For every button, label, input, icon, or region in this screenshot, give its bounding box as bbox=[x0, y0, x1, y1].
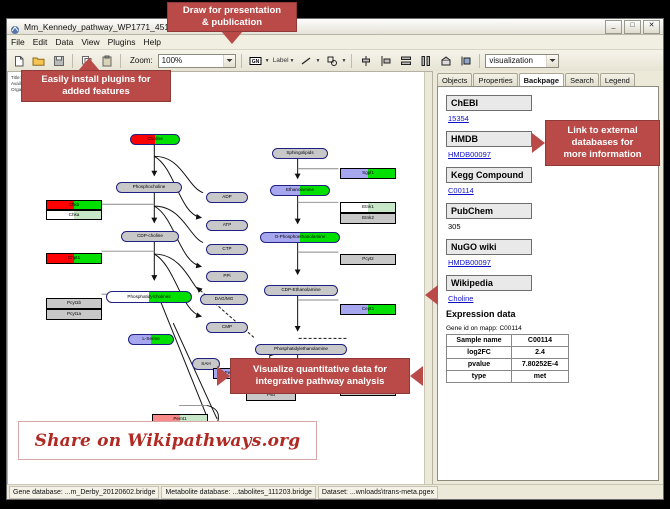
open-folder-icon[interactable] bbox=[30, 52, 47, 69]
node-label: Sgpl1 bbox=[362, 171, 374, 176]
expression-value: 2.4 bbox=[512, 347, 569, 359]
save-icon[interactable] bbox=[50, 52, 67, 69]
callout-links-line2: databases for bbox=[572, 137, 634, 149]
node-label: CMP bbox=[222, 325, 232, 330]
gene-product-tool[interactable]: GN ▼ bbox=[247, 52, 270, 69]
maximize-button[interactable]: □ bbox=[624, 20, 641, 34]
node-label: ADP bbox=[222, 195, 231, 200]
app-icon bbox=[10, 22, 20, 32]
gene-node-etnk1[interactable]: Etnk1 bbox=[340, 202, 396, 213]
metabolite-node-sphingolipids[interactable]: Sphingolipids bbox=[272, 148, 328, 159]
node-label: O-Phosphoethanolamine bbox=[275, 235, 326, 240]
shape-icon[interactable] bbox=[323, 52, 340, 69]
callout-visualize-data: Visualize quantitative data for integrat… bbox=[230, 358, 410, 394]
node-label: ATP bbox=[223, 223, 232, 228]
callout-external-links: Link to external databases for more info… bbox=[545, 120, 660, 166]
node-label: Phosphatidylethanolamine bbox=[274, 347, 328, 352]
status-gene-database: Gene database: ...m_Derby_20120602.bridg… bbox=[9, 486, 159, 499]
database-name: PubChem bbox=[446, 203, 532, 219]
tab-objects[interactable]: Objects bbox=[437, 73, 472, 86]
metabolite-node-phosphatidylethanolamine[interactable]: Phosphatidylethanolamine bbox=[255, 344, 347, 355]
tab-backpage[interactable]: Backpage bbox=[519, 73, 564, 86]
callout-install-plugins: Easily install plugins for added feature… bbox=[21, 70, 171, 102]
database-link[interactable]: Choline bbox=[448, 294, 658, 303]
table-row: typemet bbox=[447, 371, 569, 383]
toolbar-separator bbox=[241, 54, 242, 68]
gene-node-chpt1[interactable]: Chpt1 bbox=[46, 253, 102, 264]
database-link[interactable]: HMDB00097 bbox=[448, 258, 658, 267]
menu-item-plugins[interactable]: Plugins bbox=[108, 37, 136, 47]
metabolite-node-choline-top[interactable]: Choline bbox=[130, 134, 180, 145]
window-titlebar: Mm_Kennedy_pathway_WP1771_45176.gpml _ □… bbox=[7, 19, 663, 35]
metabolite-node-o-phosphoethanolamine[interactable]: O-Phosphoethanolamine bbox=[260, 232, 340, 243]
node-label: Etnk2 bbox=[362, 216, 374, 221]
share-banner-text: Share on Wikipathways.org bbox=[35, 431, 301, 451]
screenshot-root: Mm_Kennedy_pathway_WP1771_45176.gpml _ □… bbox=[0, 0, 670, 509]
zoom-label: Zoom: bbox=[130, 56, 153, 65]
table-row: pvalue7.80252E-4 bbox=[447, 359, 569, 371]
callout-plugins-line2: added features bbox=[62, 86, 130, 98]
side-panel-tabs: Objects Properties Backpage Search Legen… bbox=[433, 71, 663, 86]
gene-node-chka[interactable]: Chka bbox=[46, 210, 102, 220]
metabolite-node-ctp[interactable]: CTP bbox=[206, 244, 248, 255]
database-block-wikipedia: WikipediaCholine bbox=[446, 273, 658, 303]
chevron-down-icon[interactable] bbox=[223, 55, 235, 67]
callout-links-pointer bbox=[532, 133, 545, 153]
node-label: SAH bbox=[201, 362, 210, 367]
expression-key: Sample name bbox=[447, 335, 512, 347]
paste-icon[interactable] bbox=[98, 52, 115, 69]
gene-id-label: Gene id on mapp: C00114 bbox=[446, 325, 658, 332]
database-name: Wikipedia bbox=[446, 275, 532, 291]
metabolite-node-phosphatidylcholines[interactable]: Phosphatidylcholines bbox=[106, 291, 192, 303]
database-value: 305 bbox=[448, 222, 658, 231]
gene-node-chkb[interactable]: Chkb bbox=[46, 200, 102, 210]
metabolite-node-cmp[interactable]: CMP bbox=[206, 322, 248, 333]
gene-node-pcyt1a[interactable]: Pcyt1a bbox=[46, 309, 102, 320]
label-tool[interactable]: Label ▼ bbox=[273, 57, 295, 64]
callout-plugins-line1: Easily install plugins for bbox=[41, 74, 150, 86]
shape-tool[interactable]: ▼ bbox=[323, 52, 346, 69]
gene-node-sgpl1[interactable]: Sgpl1 bbox=[340, 168, 396, 179]
node-label: PPi bbox=[223, 274, 230, 279]
visualization-value: visualization bbox=[489, 56, 533, 65]
toolbar-separator bbox=[72, 54, 73, 68]
chevron-down-icon[interactable]: ▼ bbox=[290, 58, 295, 64]
callout-visualize-pointer bbox=[217, 366, 230, 386]
expression-key: pvalue bbox=[447, 359, 512, 371]
table-row: Sample nameC00114 bbox=[447, 335, 569, 347]
database-block-nugo-wiki: NuGO wikiHMDB00097 bbox=[446, 237, 658, 267]
database-block-kegg-compound: Kegg CompoundC00114 bbox=[446, 165, 658, 195]
toolbar-separator bbox=[351, 54, 352, 68]
bring-front-icon[interactable] bbox=[457, 52, 474, 69]
node-label: Pcyt2 bbox=[362, 257, 374, 262]
metabolite-node-dag-mg[interactable]: DAG/MG bbox=[200, 294, 248, 305]
close-button[interactable]: ✕ bbox=[643, 20, 660, 34]
menu-item-view[interactable]: View bbox=[81, 37, 99, 47]
callout-draw-pointer bbox=[221, 31, 243, 44]
node-label: Chpt1 bbox=[68, 256, 80, 261]
database-name: Kegg Compound bbox=[446, 167, 532, 183]
svg-text:GN: GN bbox=[251, 59, 259, 65]
database-link[interactable]: C00114 bbox=[448, 186, 658, 195]
node-label: Phosphocholine bbox=[133, 185, 166, 190]
node-label: Chkb bbox=[69, 203, 80, 208]
expression-key: type bbox=[447, 371, 512, 383]
chevron-down-icon[interactable]: ▼ bbox=[315, 58, 320, 64]
window-controls: _ □ ✕ bbox=[605, 20, 660, 34]
zoom-combobox[interactable]: 100% bbox=[158, 54, 236, 68]
label-tool-text: Label bbox=[273, 57, 289, 64]
node-label: Cept1 bbox=[362, 307, 374, 312]
menu-item-data[interactable]: Data bbox=[55, 37, 73, 47]
metabolite-node-ppi[interactable]: PPi bbox=[206, 271, 248, 282]
callout-visualize-line2: integrative pathway analysis bbox=[256, 376, 385, 388]
line-tool[interactable]: ▼ bbox=[297, 52, 320, 69]
database-name: NuGO wiki bbox=[446, 239, 532, 255]
metabolite-node-l-serine-left[interactable]: L-Serine bbox=[128, 334, 174, 345]
expression-value: C00114 bbox=[512, 335, 569, 347]
node-label: Chka bbox=[69, 213, 80, 218]
status-metabolite-database: Metabolite database: ...tabolites_111203… bbox=[161, 486, 315, 499]
share-banner: Share on Wikipathways.org bbox=[18, 421, 317, 460]
tab-legend[interactable]: Legend bbox=[600, 73, 635, 86]
metabolite-node-cdp-ethanolamine[interactable]: CDP-Ethanolamine bbox=[264, 285, 338, 296]
canvas-scrollbar[interactable] bbox=[424, 72, 432, 484]
minimize-button[interactable]: _ bbox=[605, 20, 622, 34]
metabolite-node-ethanolamine[interactable]: Ethanolamine bbox=[270, 185, 330, 196]
expression-value: 7.80252E-4 bbox=[512, 359, 569, 371]
expression-data-heading: Expression data bbox=[446, 309, 658, 319]
chevron-down-icon[interactable] bbox=[546, 55, 558, 67]
menu-item-edit[interactable]: Edit bbox=[33, 37, 48, 47]
stack-icon[interactable] bbox=[437, 52, 454, 69]
align-left-icon[interactable] bbox=[377, 52, 394, 69]
gene-node-pcyt1b[interactable]: Pcyt1b bbox=[46, 298, 102, 309]
node-label: Ethanolamine bbox=[286, 188, 314, 193]
metabolite-node-adp[interactable]: ADP bbox=[206, 192, 248, 203]
toolbar-separator bbox=[120, 54, 121, 68]
chevron-down-icon[interactable]: ▼ bbox=[265, 58, 270, 64]
gene-node-etnk2[interactable]: Etnk2 bbox=[340, 213, 396, 224]
node-label: CTP bbox=[222, 247, 231, 252]
menu-item-help[interactable]: Help bbox=[144, 37, 161, 47]
expression-key: log2FC bbox=[447, 347, 512, 359]
expression-table: Sample nameC00114log2FC2.4pvalue7.80252E… bbox=[446, 334, 569, 383]
database-name: ChEBI bbox=[446, 95, 532, 111]
callout-links-line3: more information bbox=[563, 149, 641, 161]
metabolite-node-atp[interactable]: ATP bbox=[206, 220, 248, 231]
toolbar: Zoom: 100% GN ▼ Label ▼ bbox=[7, 50, 663, 72]
node-label: DAG/MG bbox=[215, 297, 234, 302]
gene-product-icon[interactable]: GN bbox=[247, 52, 264, 69]
toolbar-separator bbox=[479, 54, 480, 68]
menubar: File Edit Data View Plugins Help bbox=[7, 35, 663, 50]
chevron-down-icon[interactable]: ▼ bbox=[341, 58, 346, 64]
callout-links-line1: Link to external bbox=[567, 125, 637, 137]
zoom-value: 100% bbox=[162, 56, 182, 65]
metabolite-node-phosphocholine[interactable]: Phosphocholine bbox=[116, 182, 182, 193]
distribute-horizontal-icon[interactable] bbox=[417, 52, 434, 69]
callout-draw-for-presentation: Draw for presentation & publication bbox=[167, 2, 297, 32]
database-block-chebi: ChEBI15354 bbox=[446, 93, 658, 123]
menu-item-file[interactable]: File bbox=[11, 37, 25, 47]
gene-node-cept1[interactable]: Cept1 bbox=[340, 304, 396, 315]
callout-visualize-line1: Visualize quantitative data for bbox=[253, 364, 387, 376]
database-block-pubchem: PubChem305 bbox=[446, 201, 658, 231]
align-center-icon[interactable] bbox=[357, 52, 374, 69]
node-label: Phosphatidylcholines bbox=[127, 295, 170, 300]
status-dataset: Dataset: ...wnloads\trans-meta.pgex bbox=[318, 486, 438, 499]
node-label: CDP-Ethanolamine bbox=[281, 288, 320, 293]
gene-node-pcyt2[interactable]: Pcyt2 bbox=[340, 254, 396, 265]
node-label: Choline bbox=[147, 137, 163, 142]
callout-draw-line1: Draw for presentation bbox=[183, 5, 281, 17]
callout-visualize-pointer-right bbox=[410, 366, 423, 386]
statusbar: Gene database: ...m_Derby_20120602.bridg… bbox=[7, 484, 663, 499]
visualization-combobox[interactable]: visualization bbox=[485, 54, 559, 68]
tab-search[interactable]: Search bbox=[565, 73, 599, 86]
callout-expression-pointer bbox=[425, 285, 438, 305]
callout-draw-line2: & publication bbox=[202, 17, 262, 29]
table-row: log2FC2.4 bbox=[447, 347, 569, 359]
metabolite-node-cdp-choline[interactable]: CDP-choline bbox=[121, 231, 179, 242]
node-label: L-Serine bbox=[142, 337, 159, 342]
node-label: Pcyt1b bbox=[67, 301, 81, 306]
database-name: HMDB bbox=[446, 131, 532, 147]
tab-properties[interactable]: Properties bbox=[473, 73, 517, 86]
node-label: Sphingolipids bbox=[286, 151, 313, 156]
node-label: CDP-choline bbox=[137, 234, 163, 239]
new-file-icon[interactable] bbox=[10, 52, 27, 69]
distribute-vertical-icon[interactable] bbox=[397, 52, 414, 69]
node-label: Etnk1 bbox=[362, 205, 374, 210]
expression-value: met bbox=[512, 371, 569, 383]
line-icon[interactable] bbox=[297, 52, 314, 69]
node-label: Pcyt1a bbox=[67, 312, 81, 317]
